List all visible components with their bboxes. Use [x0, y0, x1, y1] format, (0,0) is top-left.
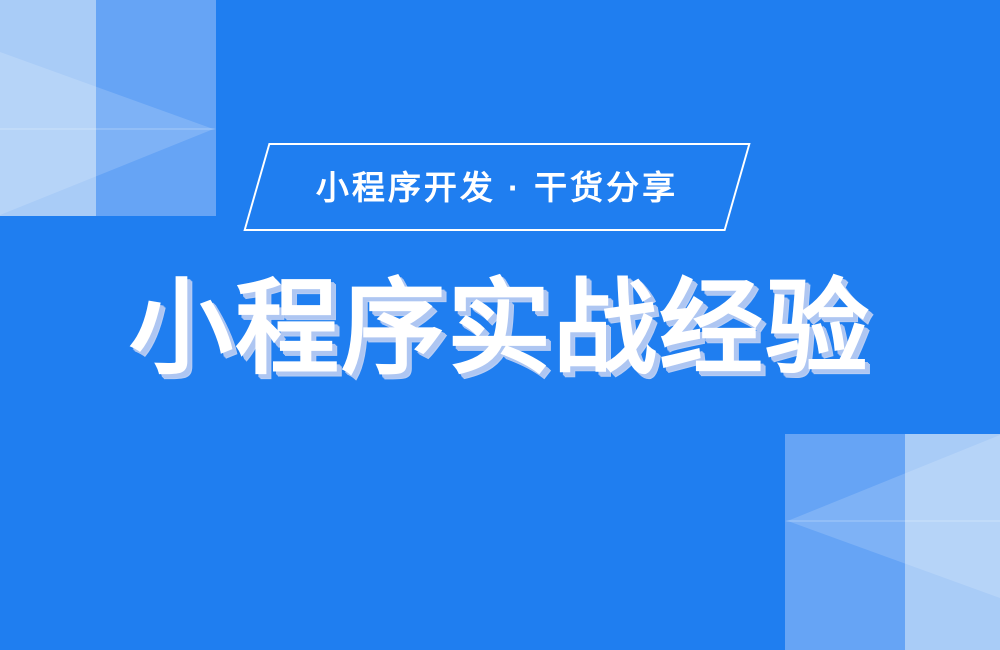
- promo-banner: 小程序开发 · 干货分享 小程序实战经验: [0, 0, 1000, 650]
- decor-bottom-right-mid-panel: [785, 434, 905, 650]
- decor-top-left-wedge-lower: [0, 128, 216, 256]
- main-title-container: 小程序实战经验: [0, 272, 1000, 386]
- decor-top-left-mid-panel: [96, 0, 216, 216]
- decor-top-left-wedge-upper: [0, 0, 216, 130]
- decor-bottom-right-wedge-upper: [785, 394, 1000, 522]
- subtitle-badge: 小程序开发 · 干货分享: [256, 143, 738, 231]
- page-title: 小程序实战经验: [129, 272, 871, 386]
- decor-bottom-right-pale-panel: [905, 434, 1000, 650]
- decor-top-left-pale-panel: [0, 0, 96, 216]
- subtitle-text: 小程序开发 · 干货分享: [256, 143, 738, 231]
- decor-bottom-right-wedge-lower: [785, 520, 1000, 650]
